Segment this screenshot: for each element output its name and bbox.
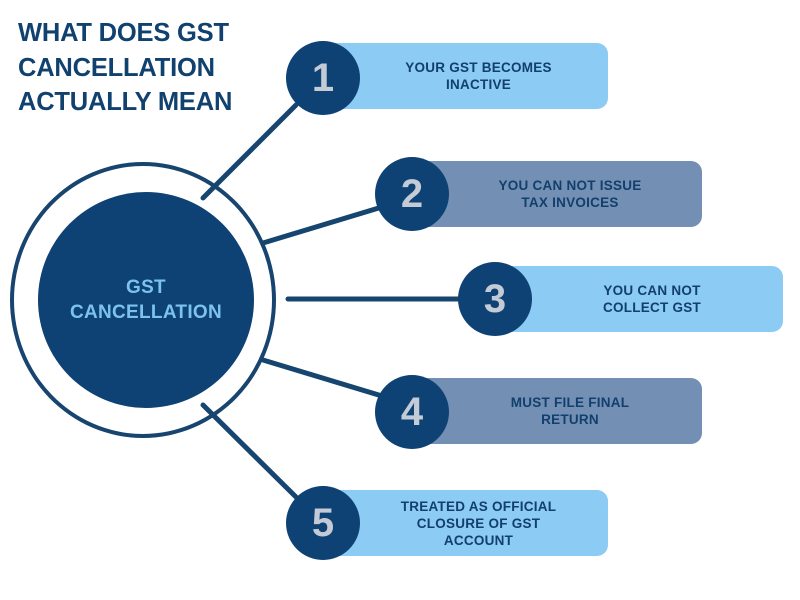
hub-circle[interactable]: GST CANCELLATION [38, 192, 254, 408]
step-number-circle-5[interactable]: 5 [286, 486, 360, 560]
connector-line-5 [203, 405, 296, 497]
step-number-circle-4[interactable]: 4 [375, 375, 449, 449]
step-label-5: TREATED AS OFFICIAL CLOSURE OF GST ACCOU… [361, 498, 565, 549]
connector-line-1 [203, 105, 296, 198]
step-number-2: 2 [401, 174, 423, 214]
step-number-circle-2[interactable]: 2 [375, 157, 449, 231]
step-label-1: YOUR GST BECOMES INACTIVE [365, 59, 560, 93]
infographic-canvas: WHAT DOES GST CANCELLATION ACTUALLY MEAN… [0, 0, 800, 600]
step-bar-3[interactable]: YOU CAN NOT COLLECT GST [489, 266, 783, 332]
step-number-1: 1 [312, 58, 334, 98]
step-number-3: 3 [484, 279, 506, 319]
step-number-4: 4 [401, 392, 423, 432]
step-number-circle-3[interactable]: 3 [458, 262, 532, 336]
connector-line-4 [263, 360, 382, 396]
connector-line-2 [263, 207, 382, 243]
step-bar-2[interactable]: YOU CAN NOT ISSUE TAX INVOICES [406, 161, 702, 227]
step-label-4: MUST FILE FINAL RETURN [471, 394, 638, 428]
step-label-2: YOU CAN NOT ISSUE TAX INVOICES [458, 177, 649, 211]
step-bar-1[interactable]: YOUR GST BECOMES INACTIVE [317, 43, 608, 109]
step-bar-4[interactable]: MUST FILE FINAL RETURN [406, 378, 702, 444]
step-bar-5[interactable]: TREATED AS OFFICIAL CLOSURE OF GST ACCOU… [317, 490, 608, 556]
step-number-5: 5 [312, 503, 334, 543]
step-label-3: YOU CAN NOT COLLECT GST [563, 282, 709, 316]
step-number-circle-1[interactable]: 1 [286, 41, 360, 115]
hub-label: GST CANCELLATION [70, 275, 222, 325]
